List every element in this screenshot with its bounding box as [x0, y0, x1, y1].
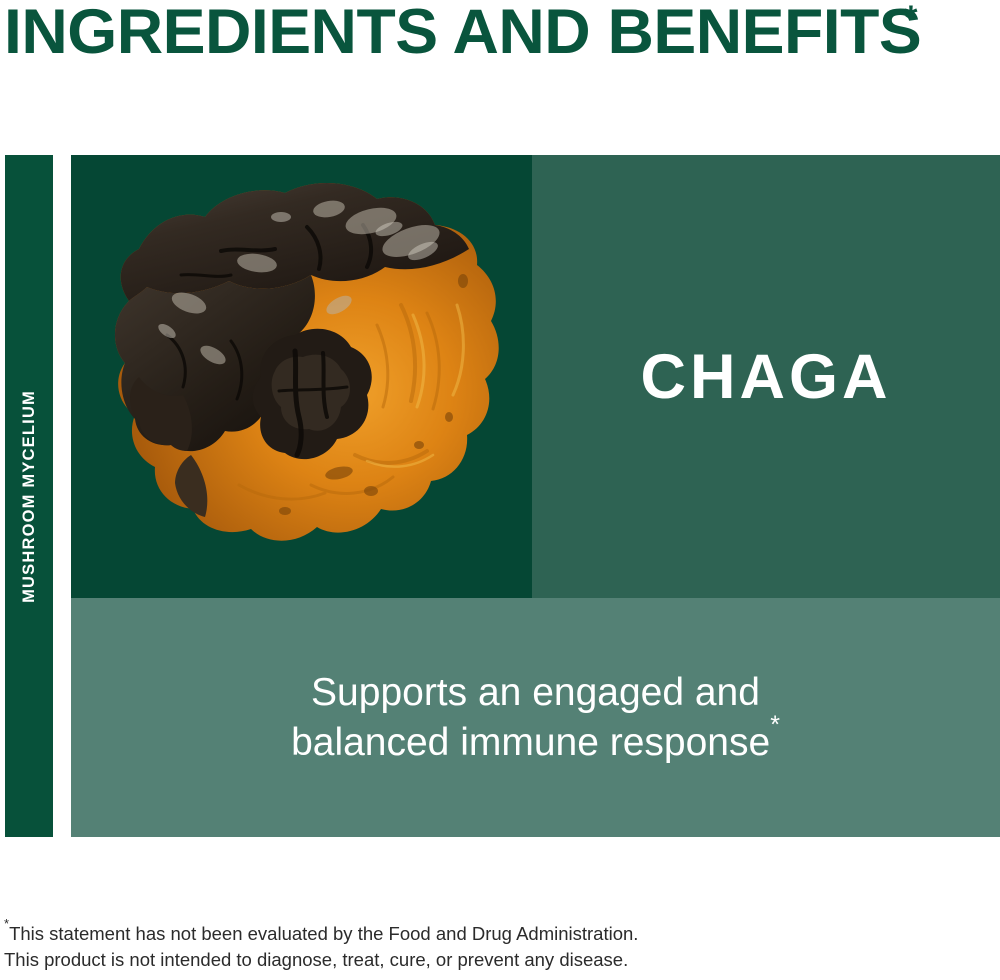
- fda-disclaimer-footnote-marker: *: [4, 916, 9, 931]
- ingredient-benefit-text: Supports an engaged and balanced immune …: [291, 668, 780, 768]
- page-title: INGREDIENTS AND BENEFITS*: [4, 0, 1000, 68]
- chaga-mushroom-image: [71, 155, 532, 598]
- fda-disclaimer-line-2: This product is not intended to diagnose…: [4, 947, 904, 973]
- fda-disclaimer-text-1: This statement has not been evaluated by…: [9, 923, 638, 944]
- ingredient-card-top: CHAGA: [71, 155, 1000, 598]
- ingredient-photo-panel: [71, 155, 532, 598]
- ingredient-name-panel: CHAGA: [532, 155, 1000, 598]
- benefit-line-1: Supports an engaged and: [311, 671, 760, 714]
- ingredients-benefits-page: INGREDIENTS AND BENEFITS* MUSHROOM MYCEL…: [0, 0, 1000, 980]
- ingredient-card: CHAGA Supports an engaged and balanced i…: [71, 155, 1000, 837]
- benefit-line-2: balanced immune response: [291, 721, 770, 764]
- fda-disclaimer-line-1: *This statement has not been evaluated b…: [4, 921, 904, 947]
- benefit-footnote-marker: *: [770, 711, 780, 739]
- category-sidebar: MUSHROOM MYCELIUM: [5, 155, 53, 837]
- ingredient-benefit-panel: Supports an engaged and balanced immune …: [71, 598, 1000, 837]
- page-title-text: INGREDIENTS AND BENEFITS: [4, 1, 921, 64]
- fda-disclaimer: *This statement has not been evaluated b…: [4, 921, 904, 974]
- ingredient-name: CHAGA: [641, 341, 892, 413]
- category-sidebar-label: MUSHROOM MYCELIUM: [20, 390, 39, 603]
